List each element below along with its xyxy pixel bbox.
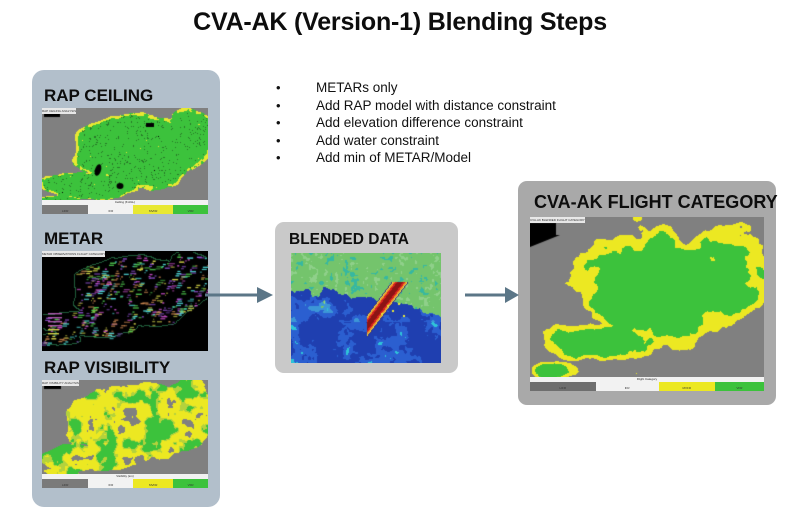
bullet-icon: • bbox=[272, 97, 316, 115]
blended-data-panel: BLENDED DATA bbox=[275, 222, 458, 373]
bullet-icon: • bbox=[272, 79, 316, 97]
list-item-label: METARs only bbox=[316, 79, 398, 97]
legend-tick: MVFR bbox=[149, 483, 158, 487]
legend-tick: IFR bbox=[108, 483, 113, 487]
arrow-blended-to-output bbox=[465, 283, 521, 312]
output-panel: CVA-AK FLIGHT CATEGORY CVA-AK BLENDED FL… bbox=[518, 181, 776, 405]
blended-data-label: BLENDED DATA bbox=[289, 231, 409, 249]
metar-label: METAR bbox=[44, 229, 103, 249]
metar-map[interactable]: METAR OBSERVATIONS FLIGHT CATEGORY bbox=[42, 251, 208, 351]
output-map-header: CVA-AK BLENDED FLIGHT CATEGORY bbox=[530, 217, 585, 223]
bullet-icon: • bbox=[272, 132, 316, 150]
arrow-right-icon bbox=[465, 283, 521, 307]
inputs-panel: RAP CEILING RAP CEILING ANALYSIS Ceiling… bbox=[32, 70, 220, 507]
list-item: • Add elevation difference constraint bbox=[272, 114, 612, 132]
list-item-label: Add RAP model with distance constraint bbox=[316, 97, 556, 115]
rap-ceiling-map[interactable]: RAP CEILING ANALYSIS Ceiling (ft AGL) LI… bbox=[42, 108, 208, 214]
legend-tick: MVFR bbox=[683, 386, 692, 390]
metar-map-header: METAR OBSERVATIONS FLIGHT CATEGORY bbox=[42, 251, 105, 257]
rap-visibility-raster bbox=[42, 380, 208, 488]
legend-tick: LIFR bbox=[62, 483, 69, 487]
slide-canvas: CVA-AK (Version-1) Blending Steps • META… bbox=[0, 0, 800, 527]
arrow-right-icon bbox=[205, 283, 275, 307]
rap-visibility-label: RAP VISIBILITY bbox=[44, 358, 170, 378]
blending-steps-list: • METARs only • Add RAP model with dista… bbox=[272, 79, 612, 167]
blended-data-raster bbox=[291, 253, 441, 363]
rap-ceiling-label: RAP CEILING bbox=[44, 86, 153, 106]
list-item: • METARs only bbox=[272, 79, 612, 97]
legend-tick: IFR bbox=[108, 209, 113, 213]
bullet-icon: • bbox=[272, 149, 316, 167]
legend-tick: LIFR bbox=[559, 386, 566, 390]
rap-visibility-map-header: RAP VISIBILITY ANALYSIS bbox=[42, 380, 79, 386]
rap-ceiling-map-header: RAP CEILING ANALYSIS bbox=[42, 108, 76, 114]
cva-ak-flight-category-label: CVA-AK FLIGHT CATEGORY bbox=[534, 192, 778, 213]
rap-ceiling-raster bbox=[42, 108, 208, 214]
legend-tick: VFR bbox=[736, 386, 742, 390]
list-item-label: Add water constraint bbox=[316, 132, 439, 150]
list-item: • Add water constraint bbox=[272, 132, 612, 150]
legend-tick: IFR bbox=[625, 386, 630, 390]
list-item-label: Add elevation difference constraint bbox=[316, 114, 523, 132]
legend-tick: VFR bbox=[188, 209, 194, 213]
metar-station-plot bbox=[42, 251, 208, 351]
bullet-icon: • bbox=[272, 114, 316, 132]
rap-visibility-map[interactable]: RAP VISIBILITY ANALYSIS Visibility (sm) … bbox=[42, 380, 208, 488]
legend-tick: MVFR bbox=[149, 209, 158, 213]
list-item: • Add min of METAR/Model bbox=[272, 149, 612, 167]
list-item-label: Add min of METAR/Model bbox=[316, 149, 471, 167]
blended-data-map[interactable] bbox=[291, 253, 441, 363]
cva-ak-flight-category-map[interactable]: CVA-AK BLENDED FLIGHT CATEGORY Flight Ca… bbox=[530, 217, 764, 391]
legend-tick: VFR bbox=[188, 483, 194, 487]
arrow-inputs-to-blended bbox=[205, 283, 275, 312]
legend-tick: LIFR bbox=[62, 209, 69, 213]
list-item: • Add RAP model with distance constraint bbox=[272, 97, 612, 115]
page-title: CVA-AK (Version-1) Blending Steps bbox=[0, 8, 800, 37]
cva-ak-flight-category-raster bbox=[530, 217, 764, 391]
